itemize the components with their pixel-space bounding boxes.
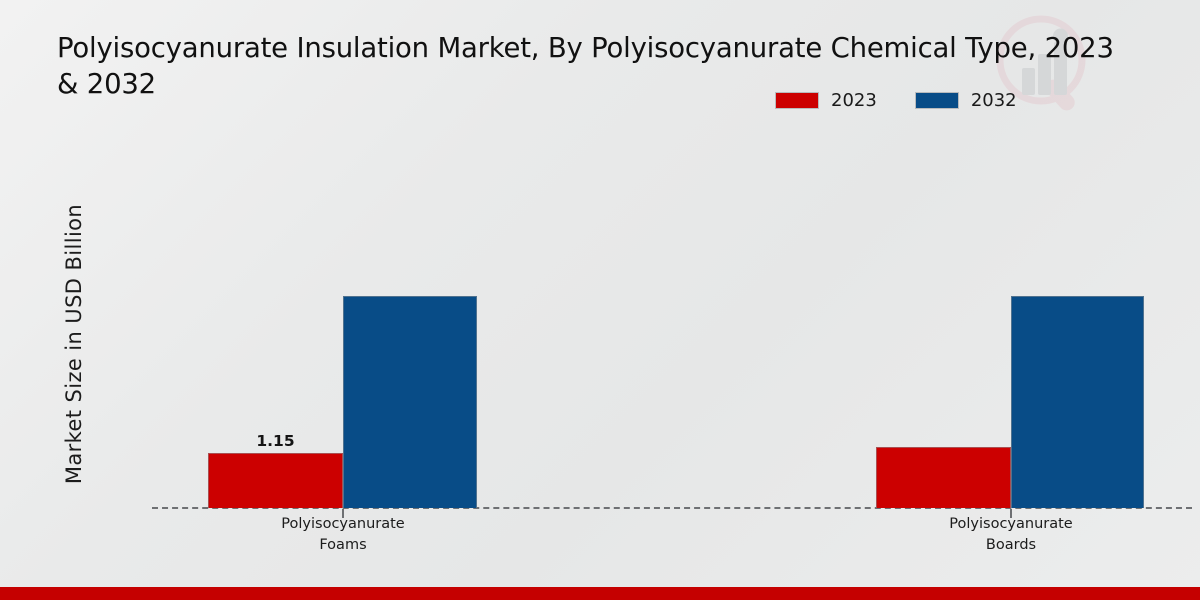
footer-accent-band: [0, 587, 1200, 600]
bar-2032-polyisocyanurate-boards[interactable]: [1011, 296, 1144, 508]
category-label-polyisocyanurate-foams: Polyisocyanurate Foams: [213, 514, 473, 556]
bar-2032-polyisocyanurate-foams[interactable]: [343, 296, 477, 508]
category-label-polyisocyanurate-boards: Polyisocyanurate Boards: [881, 514, 1141, 556]
plot-area: 1.15 Polyisocyanurate Foams Polyisocyanu…: [0, 0, 1200, 600]
bar-2023-polyisocyanurate-boards[interactable]: [876, 447, 1011, 508]
bar-value-label-2023-polyisocyanurate-foams: 1.15: [208, 432, 343, 450]
chart-container: Polyisocyanurate Insulation Market, By P…: [0, 0, 1200, 600]
bar-2023-polyisocyanurate-foams[interactable]: [208, 453, 343, 508]
